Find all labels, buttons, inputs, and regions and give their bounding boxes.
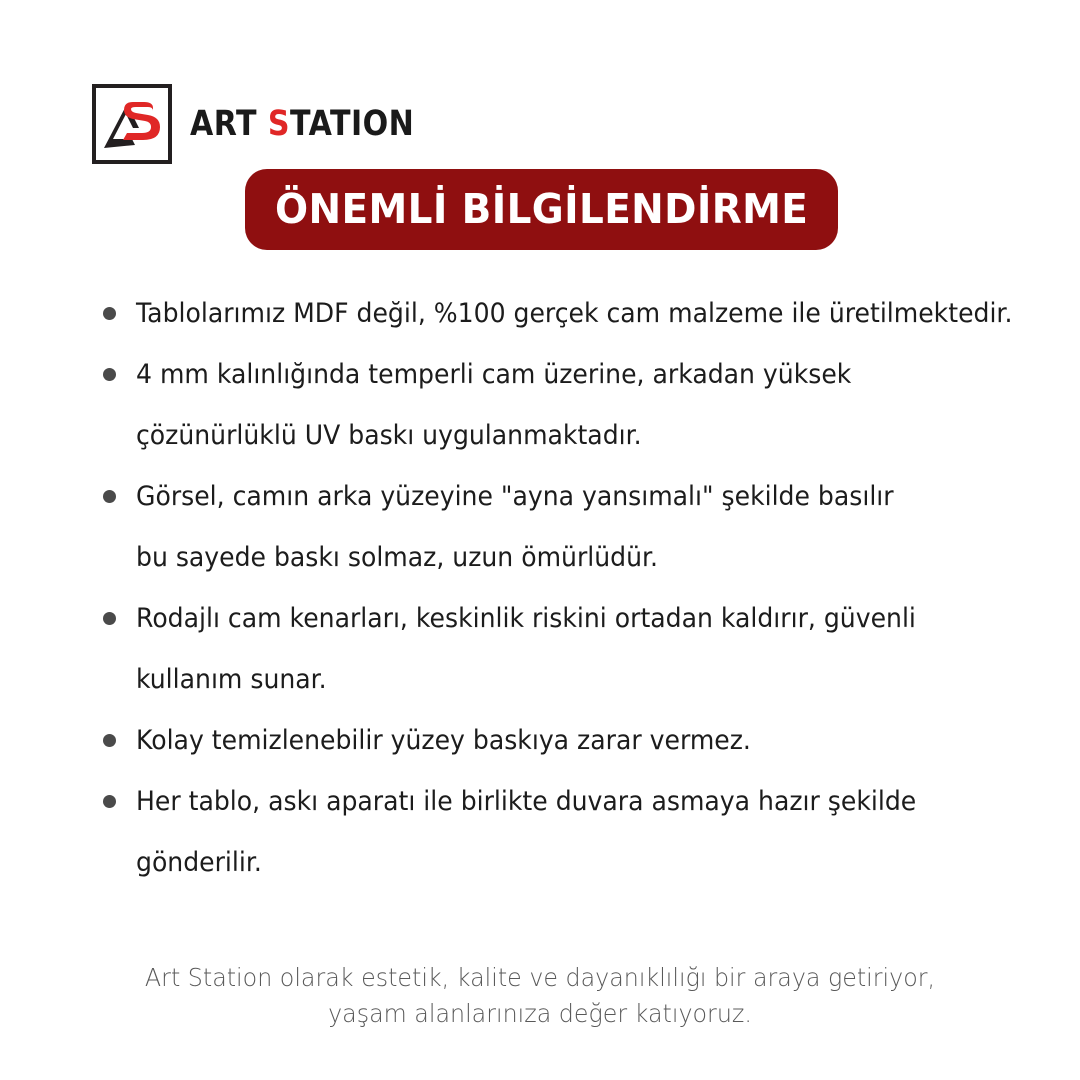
list-item: Rodajlı cam kenarları, keskinlik riskini…: [100, 588, 1040, 649]
list-item: Kolay temizlenebilir yüzey baskıya zarar…: [100, 710, 1040, 771]
list-item: Her tablo, askı aparatı ile birlikte duv…: [100, 771, 1040, 832]
bullet-dot-icon: [103, 734, 116, 747]
list-item-text: Görsel, camın arka yüzeyine "ayna yansım…: [136, 482, 894, 512]
brand-name-part-1: ART: [190, 104, 268, 144]
list-item-continuation: bu sayede baskı solmaz, uzun ömürlüdür.: [100, 527, 1040, 588]
list-item: Görsel, camın arka yüzeyine "ayna yansım…: [100, 466, 1040, 527]
list-item-text: Kolay temizlenebilir yüzey baskıya zarar…: [136, 726, 751, 756]
list-item-continuation: çözünürlüklü UV baskı uygulanmaktadır.: [100, 405, 1040, 466]
brand-header: ART STATION: [92, 84, 451, 164]
list-item-text: Her tablo, askı aparatı ile birlikte duv…: [136, 787, 916, 817]
list-item: 4 mm kalınlığında temperli cam üzerine, …: [100, 344, 1040, 405]
bullet-dot-icon: [103, 307, 116, 320]
banner-title: ÖNEMLİ BİLGİLENDİRME: [275, 189, 808, 230]
list-item-text: Rodajlı cam kenarları, keskinlik riskini…: [136, 604, 916, 634]
feature-list: Tablolarımız MDF değil, %100 gerçek cam …: [100, 283, 1040, 893]
bullet-dot-icon: [103, 612, 116, 625]
bullet-dot-icon: [103, 490, 116, 503]
list-item-continuation: kullanım sunar.: [100, 649, 1040, 710]
brand-name-accent: S: [268, 104, 290, 144]
list-item-text: 4 mm kalınlığında temperli cam üzerine, …: [136, 360, 851, 390]
footer-line-2: yaşam alanlarınıza değer katıyoruz.: [27, 996, 1053, 1032]
footer-tagline: Art Station olarak estetik, kalite ve da…: [0, 960, 1080, 1033]
list-item: Tablolarımız MDF değil, %100 gerçek cam …: [100, 283, 1040, 344]
list-item-continuation: gönderilir.: [100, 832, 1040, 893]
brand-name: ART STATION: [190, 107, 414, 142]
informational-graphic: ART STATION ÖNEMLİ BİLGİLENDİRME Tablola…: [0, 0, 1080, 1080]
as-monogram-logo-icon: [92, 84, 172, 164]
footer-line-1: Art Station olarak estetik, kalite ve da…: [27, 960, 1053, 996]
bullet-dot-icon: [103, 795, 116, 808]
bullet-dot-icon: [103, 368, 116, 381]
list-item-text: çözünürlüklü UV baskı uygulanmaktadır.: [136, 421, 642, 451]
list-item-text: kullanım sunar.: [136, 665, 327, 695]
title-banner: ÖNEMLİ BİLGİLENDİRME: [245, 169, 838, 250]
brand-name-part-2: TATION: [290, 104, 414, 144]
list-item-text: Tablolarımız MDF değil, %100 gerçek cam …: [136, 299, 1012, 329]
list-item-text: bu sayede baskı solmaz, uzun ömürlüdür.: [136, 543, 658, 573]
list-item-text: gönderilir.: [136, 848, 262, 878]
